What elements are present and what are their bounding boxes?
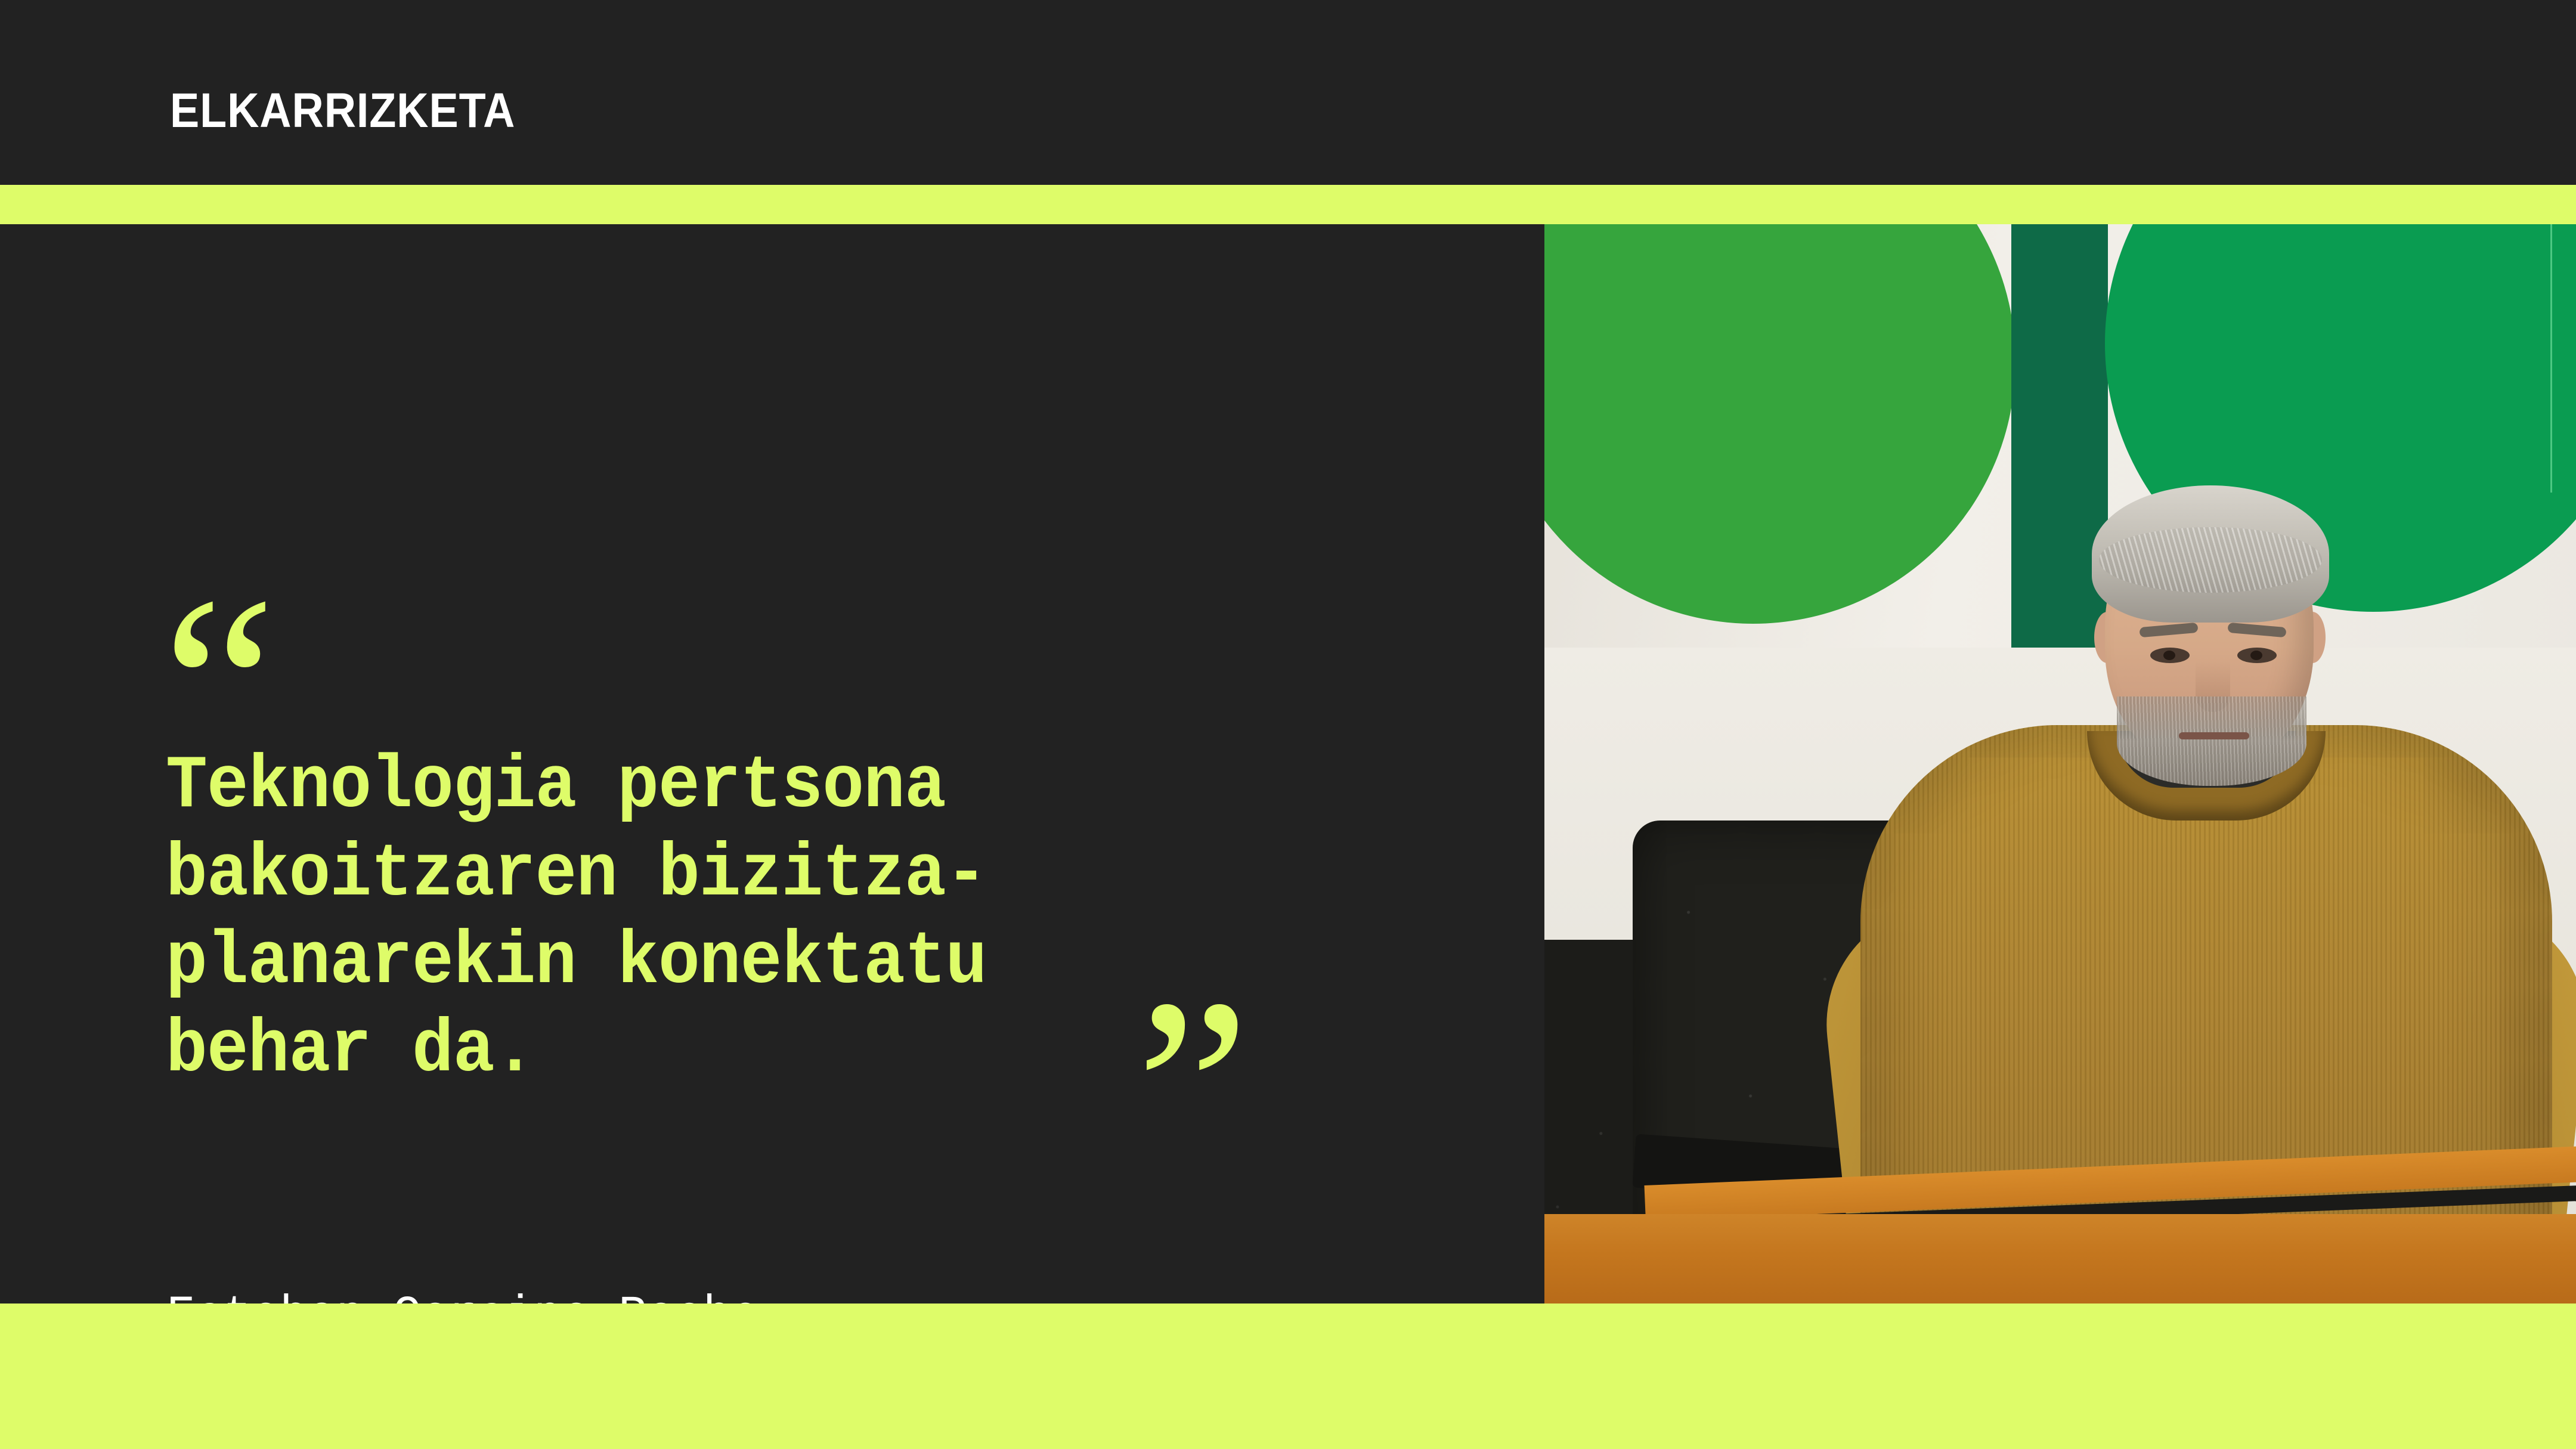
footer-band — [0, 1304, 2576, 1449]
quote-panel: “ Teknologia pertsona bakoitzaren bizitz… — [0, 224, 1544, 1304]
accent-divider — [0, 185, 2576, 224]
eye-right — [2237, 648, 2277, 663]
beard — [2117, 696, 2306, 786]
quote-card: ELKARRIZKETA “ Teknologia pertsona bakoi… — [0, 0, 2576, 1449]
table-front — [1544, 1214, 2576, 1304]
header-bar: ELKARRIZKETA — [0, 0, 2576, 185]
mouth — [2179, 732, 2249, 739]
quote-text: Teknologia pertsona bakoitzaren bizitza-… — [166, 743, 1142, 1095]
eye-left — [2150, 648, 2190, 663]
close-quote-icon: ” — [1136, 961, 1245, 1217]
hair — [2092, 485, 2329, 623]
interviewee-photo — [1544, 224, 2576, 1304]
page-title: ELKARRIZKETA — [170, 86, 515, 135]
